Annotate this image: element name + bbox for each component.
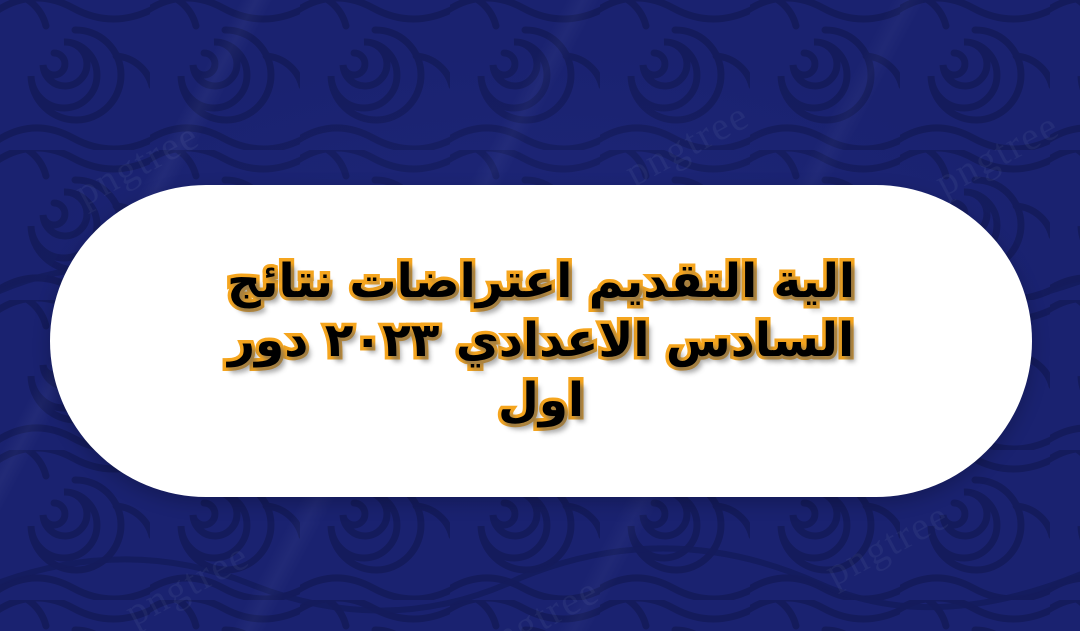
headline-line-1: الية التقديم اعتراضات نتائج bbox=[96, 252, 986, 311]
headline-line-3: اول bbox=[96, 371, 986, 430]
headline-card: الية التقديم اعتراضات نتائج السادس الاعد… bbox=[50, 185, 1032, 497]
headline-line-2: السادس الاعدادي ٢٠٢٣ دور bbox=[96, 311, 986, 370]
banner-canvas: pngtree pngtree pngtree pngtree pngtree … bbox=[0, 0, 1080, 631]
page-title: الية التقديم اعتراضات نتائج السادس الاعد… bbox=[86, 252, 996, 430]
